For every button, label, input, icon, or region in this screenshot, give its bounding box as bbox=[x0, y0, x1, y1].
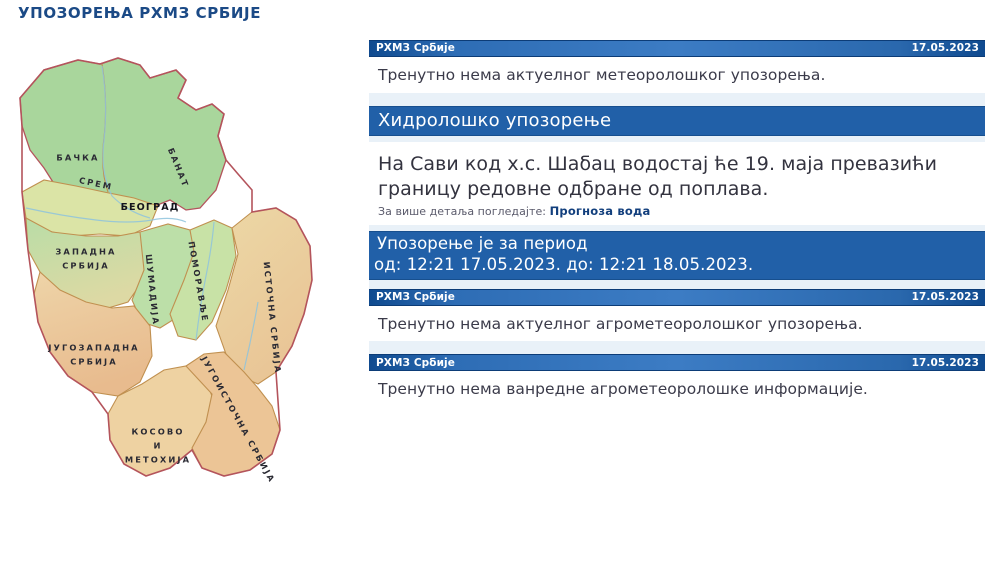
agro-info-date-label: 17.05.2023 bbox=[912, 358, 979, 369]
hydro-heading: Хидролошко упозорење bbox=[378, 110, 611, 131]
meteo-warning-text: Тренутно нема актуелног метеоролошког уп… bbox=[369, 57, 985, 93]
hydro-after-strip bbox=[369, 280, 985, 289]
map-label-zapadna-srbija-line1: ЗАПАДНА bbox=[55, 247, 116, 257]
meteo-warning-block: РХМЗ Србије 17.05.2023 Тренутно нема акт… bbox=[369, 40, 985, 106]
hydro-period-block: Упозорење је за период од: 12:21 17.05.2… bbox=[369, 231, 985, 280]
forecast-water-link[interactable]: Прогноза вода bbox=[550, 204, 651, 218]
agro-warning-source-label: РХМЗ Србије bbox=[376, 292, 455, 303]
agro-info-source-label: РХМЗ Србије bbox=[376, 358, 455, 369]
meteo-date-label: 17.05.2023 bbox=[912, 43, 979, 54]
map-label-backa: БАЧКА bbox=[56, 153, 99, 163]
hydro-warning-block: Хидролошко упозорење На Сави код х.с. Ша… bbox=[369, 106, 985, 289]
agro-info-block: РХМЗ Србије 17.05.2023 Тренутно нема ван… bbox=[369, 354, 985, 407]
agro-info-text: Тренутно нема ванредне агрометеоролошке … bbox=[369, 371, 985, 407]
serbia-map[interactable]: БАЧКА БАНАТ СРЕМ БЕОГРАД ЗАПАДНА СРБИЈА … bbox=[0, 40, 350, 520]
agro-warning-block: РХМЗ Србије 17.05.2023 Тренутно нема акт… bbox=[369, 289, 985, 355]
hydro-more-details: За више детаља погледајте: Прогноза вода bbox=[369, 204, 985, 225]
warnings-panel: РХМЗ Србије 17.05.2023 Тренутно нема акт… bbox=[369, 40, 985, 407]
map-label-zapadna-srbija-line2: СРБИЈА bbox=[62, 261, 110, 271]
page-title: УПОЗОРЕЊА РХМЗ СРБИЈЕ bbox=[18, 4, 261, 22]
map-label-jugozapadna-srbija-line2: СРБИЈА bbox=[70, 357, 118, 367]
hydro-warning-text: На Сави код х.с. Шабац водостај ће 19. м… bbox=[369, 142, 985, 204]
agro-warning-date-label: 17.05.2023 bbox=[912, 292, 979, 303]
agro-warning-divider-strip bbox=[369, 341, 985, 354]
agro-warning-header-bar: РХМЗ Србије 17.05.2023 bbox=[369, 289, 985, 306]
hydro-more-prefix: За више детаља погледајте: bbox=[378, 205, 546, 218]
page-root: УПОЗОРЕЊА РХМЗ СРБИЈЕ bbox=[0, 0, 1000, 575]
map-label-kosovo-line3: МЕТОХИЈА bbox=[125, 455, 191, 465]
hydro-header-bar: Хидролошко упозорење bbox=[369, 106, 985, 136]
map-label-jugozapadna-srbija-line1: ЈУГОЗАПАДНА bbox=[47, 343, 139, 353]
agro-info-header-bar: РХМЗ Србије 17.05.2023 bbox=[369, 354, 985, 371]
meteo-source-label: РХМЗ Србије bbox=[376, 43, 455, 54]
period-heading: Упозорење је за период bbox=[377, 234, 977, 255]
agro-warning-text: Тренутно нема актуелног агрометеоролошко… bbox=[369, 306, 985, 342]
period-range: од: 12:21 17.05.2023. до: 12:21 18.05.20… bbox=[374, 255, 977, 276]
map-label-kosovo-line1: КОСОВО bbox=[132, 427, 185, 437]
map-label-kosovo-line2: И bbox=[153, 441, 162, 451]
map-svg: БАЧКА БАНАТ СРЕМ БЕОГРАД ЗАПАДНА СРБИЈА … bbox=[0, 40, 350, 520]
meteo-header-bar: РХМЗ Србије 17.05.2023 bbox=[369, 40, 985, 57]
map-label-belgrade: БЕОГРАД bbox=[121, 202, 180, 213]
meteo-divider-strip bbox=[369, 93, 985, 106]
